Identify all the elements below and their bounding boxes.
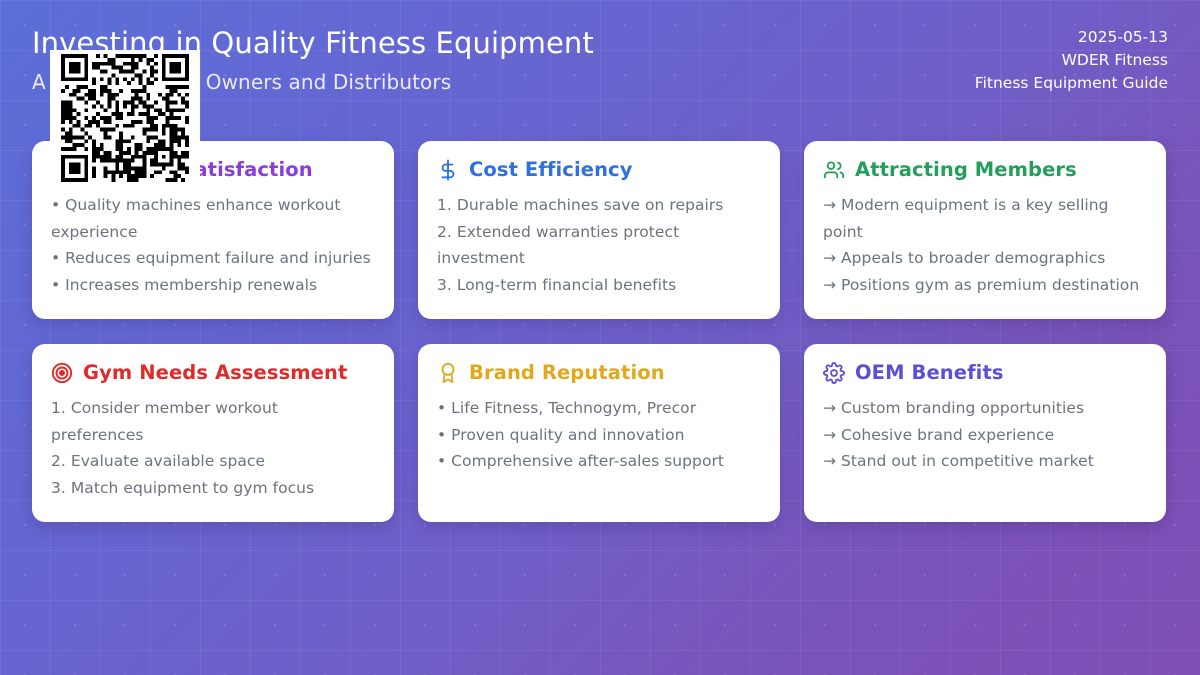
header-date: 2025-05-13 — [975, 26, 1168, 49]
list-item: → Cohesive brand experience — [823, 422, 1147, 449]
card-title: OEM Benefits — [855, 362, 1004, 383]
list-item: → Custom branding opportunities — [823, 395, 1147, 422]
cards-grid: Member Satisfaction • Quality machines e… — [32, 141, 1168, 522]
list-item: 1. Consider member workout preferences — [51, 395, 375, 448]
card-header: Cost Efficiency — [437, 159, 761, 181]
card-gym-needs-assessment[interactable]: Gym Needs Assessment 1. Consider member … — [32, 344, 394, 522]
card-bullet-list: → Custom branding opportunities → Cohesi… — [823, 395, 1147, 475]
list-item: • Reduces equipment failure and injuries — [51, 245, 375, 272]
list-item: 2. Extended warranties protect investmen… — [437, 219, 761, 272]
card-header: Brand Reputation — [437, 362, 761, 384]
list-item: 3. Match equipment to gym focus — [51, 475, 375, 502]
card-brand-reputation[interactable]: Brand Reputation • Life Fitness, Technog… — [418, 344, 780, 522]
card-bullet-list: • Life Fitness, Technogym, Precor • Prov… — [437, 395, 761, 475]
award-icon — [437, 362, 459, 384]
card-header: Gym Needs Assessment — [51, 362, 375, 384]
list-item: → Positions gym as premium destination — [823, 272, 1147, 299]
card-bullet-list: 1. Consider member workout preferences 2… — [51, 395, 375, 502]
card-bullet-list: → Modern equipment is a key selling poin… — [823, 192, 1147, 299]
card-title: Attracting Members — [855, 159, 1077, 180]
card-oem-benefits[interactable]: OEM Benefits → Custom branding opportuni… — [804, 344, 1166, 522]
list-item: • Quality machines enhance workout exper… — [51, 192, 375, 245]
slide-root: Investing in Quality Fitness Equipment A… — [0, 0, 1200, 675]
users-icon — [823, 159, 845, 181]
list-item: • Proven quality and innovation — [437, 422, 761, 449]
card-title: Gym Needs Assessment — [83, 362, 347, 383]
dollar-icon — [437, 159, 459, 181]
header-meta-block: 2025-05-13 WDER Fitness Fitness Equipmen… — [975, 26, 1168, 94]
qr-code-overlay[interactable] — [50, 50, 200, 186]
qr-code-icon — [61, 54, 189, 182]
card-header: OEM Benefits — [823, 362, 1147, 384]
list-item: → Stand out in competitive market — [823, 448, 1147, 475]
card-bullet-list: 1. Durable machines save on repairs 2. E… — [437, 192, 761, 299]
card-title: Cost Efficiency — [469, 159, 633, 180]
list-item: 2. Evaluate available space — [51, 448, 375, 475]
header-brand: WDER Fitness — [975, 49, 1168, 72]
list-item: 3. Long-term financial benefits — [437, 272, 761, 299]
target-icon — [51, 362, 73, 384]
list-item: • Increases membership renewals — [51, 272, 375, 299]
card-title: Brand Reputation — [469, 362, 665, 383]
gear-icon — [823, 362, 845, 384]
card-header: Attracting Members — [823, 159, 1147, 181]
card-bullet-list: • Quality machines enhance workout exper… — [51, 192, 375, 299]
list-item: • Comprehensive after-sales support — [437, 448, 761, 475]
header-category: Fitness Equipment Guide — [975, 72, 1168, 95]
card-attracting-members[interactable]: Attracting Members → Modern equipment is… — [804, 141, 1166, 319]
list-item: • Life Fitness, Technogym, Precor — [437, 395, 761, 422]
list-item: → Appeals to broader demographics — [823, 245, 1147, 272]
list-item: → Modern equipment is a key selling poin… — [823, 192, 1147, 245]
card-cost-efficiency[interactable]: Cost Efficiency 1. Durable machines save… — [418, 141, 780, 319]
list-item: 1. Durable machines save on repairs — [437, 192, 761, 219]
